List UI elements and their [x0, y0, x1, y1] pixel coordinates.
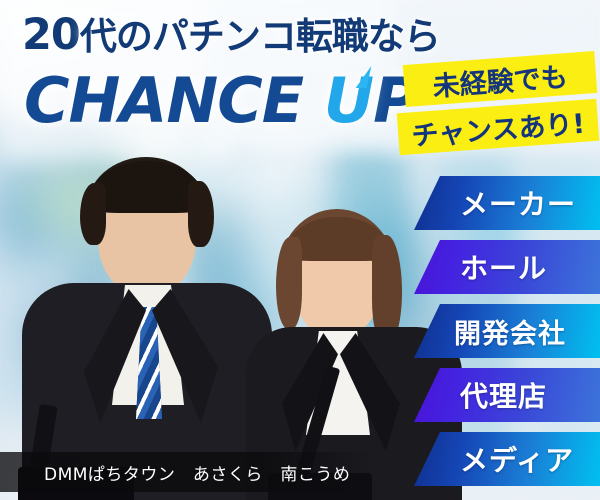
category-button-media[interactable]: メディア	[414, 432, 600, 486]
logo-chance-up: CHANCE UP	[24, 70, 418, 132]
category-label-media: メディア	[414, 439, 574, 479]
category-label-maker: メーカー	[414, 183, 576, 223]
banner-advertisement[interactable]: 20代のパチンコ転職なら CHANCE UP 未経験でも チャンスあり! メーカ…	[0, 0, 600, 500]
category-label-agency: 代理店	[414, 375, 547, 415]
category-button-development-company[interactable]: 開発会社	[414, 304, 600, 358]
category-label-development-company: 開発会社	[414, 312, 566, 351]
logo-letter-u: U	[324, 70, 373, 132]
headline-lead: 20	[22, 10, 80, 60]
headline-rest: 代のパチンコ転職なら	[80, 15, 440, 58]
category-button-maker[interactable]: メーカー	[414, 176, 600, 230]
headline-text: 20代のパチンコ転職なら	[22, 14, 440, 57]
category-button-hall[interactable]: ホール	[414, 240, 600, 294]
logo-main-text: CHANCE	[24, 64, 324, 137]
caption-bar: DMMぱちタウン あさくら 南こうめ	[0, 452, 372, 492]
category-label-hall: ホール	[414, 247, 547, 287]
caption-text: DMMぱちタウン あさくら 南こうめ	[0, 460, 350, 485]
category-button-agency[interactable]: 代理店	[414, 368, 600, 422]
